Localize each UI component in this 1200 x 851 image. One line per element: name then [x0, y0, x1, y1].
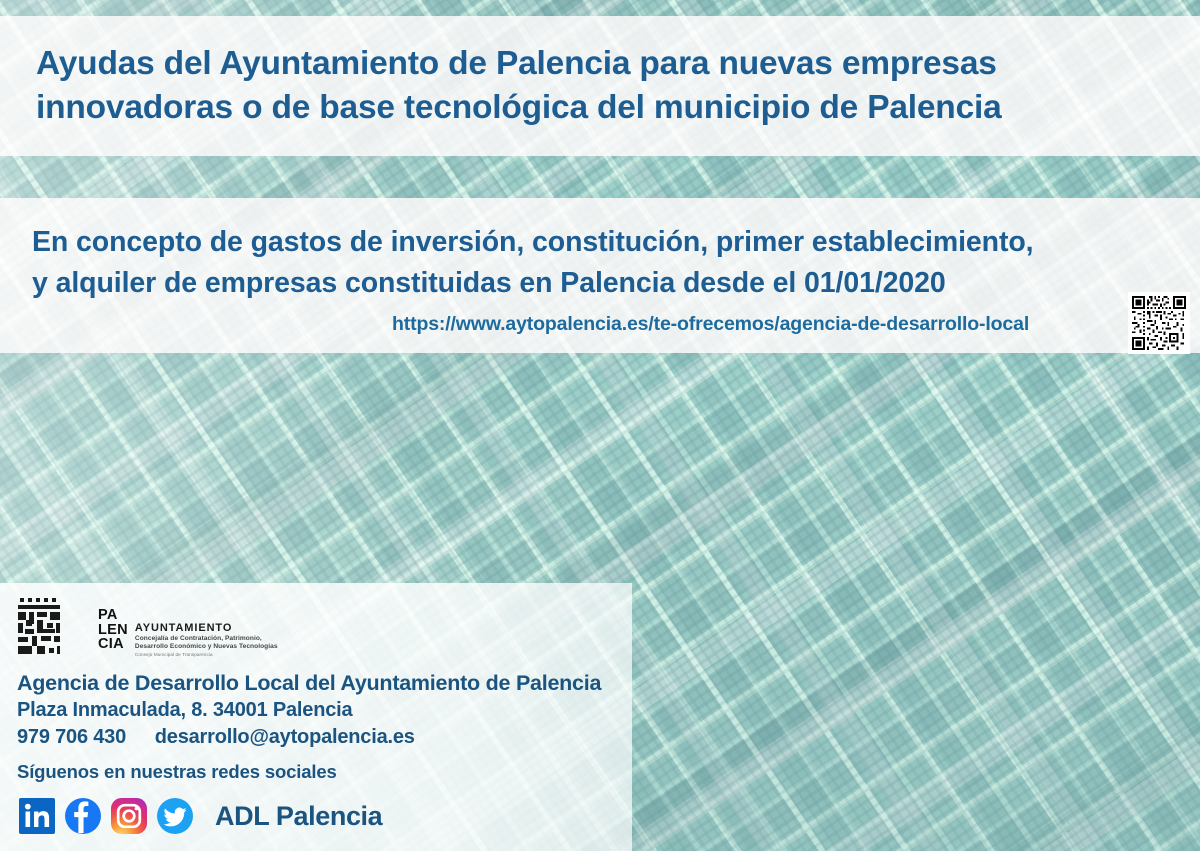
palencia-wordmark: PA LEN CIA: [98, 608, 128, 652]
logo-council: Consejo Municipal de Transparencia: [135, 652, 278, 658]
footer-address: Plaza Inmaculada, 8. 34001 Palencia: [17, 697, 601, 724]
footer-contact-line: 979 706 430 desarrollo@aytopalencia.es: [17, 724, 601, 751]
instagram-icon[interactable]: [109, 796, 149, 836]
website-url-link[interactable]: https://www.aytopalencia.es/te-ofrecemos…: [392, 313, 1029, 336]
logo-institution: AYUNTAMIENTO: [135, 622, 278, 634]
wordmark-line-3: CIA: [98, 637, 128, 652]
wordmark-line-2: LEN: [98, 623, 128, 638]
footer-contact-block: Agencia de Desarrollo Local del Ayuntami…: [17, 670, 601, 785]
poster-title: Ayudas del Ayuntamiento de Palencia para…: [36, 42, 1002, 130]
linkedin-icon[interactable]: [17, 796, 57, 836]
title-line-1: Ayudas del Ayuntamiento de Palencia para…: [36, 42, 1002, 86]
wordmark-line-1: PA: [98, 608, 128, 623]
title-line-2: innovadoras o de base tecnológica del mu…: [36, 86, 1002, 130]
subtitle-line-1: En concepto de gastos de inversión, cons…: [32, 222, 1034, 263]
poster-canvas: Ayudas del Ayuntamiento de Palencia para…: [0, 0, 1200, 851]
facebook-icon[interactable]: [63, 796, 103, 836]
logo-department: Concejalía de Contratación, Patrimonio, …: [135, 635, 278, 650]
qr-code-icon[interactable]: [1128, 292, 1190, 354]
palencia-crest-icon: [16, 596, 91, 658]
footer-phone[interactable]: 979 706 430: [17, 726, 126, 748]
social-handle: ADL Palencia: [215, 801, 382, 832]
twitter-icon[interactable]: [155, 796, 195, 836]
logo-department-block: AYUNTAMIENTO Concejalía de Contratación,…: [135, 622, 278, 658]
subtitle-line-2: y alquiler de empresas constituidas en P…: [32, 263, 1034, 304]
qr-code-svg: [1132, 296, 1186, 350]
footer-follow-text: Síguenos en nuestras redes sociales: [17, 759, 601, 785]
footer-email[interactable]: desarrollo@aytopalencia.es: [155, 726, 415, 748]
ayuntamiento-logo: PA LEN CIA AYUNTAMIENTO Concejalía de Co…: [16, 596, 278, 658]
footer-organization: Agencia de Desarrollo Local del Ayuntami…: [17, 670, 601, 697]
social-links-row: ADL Palencia: [17, 796, 382, 836]
poster-subtitle: En concepto de gastos de inversión, cons…: [32, 222, 1034, 304]
